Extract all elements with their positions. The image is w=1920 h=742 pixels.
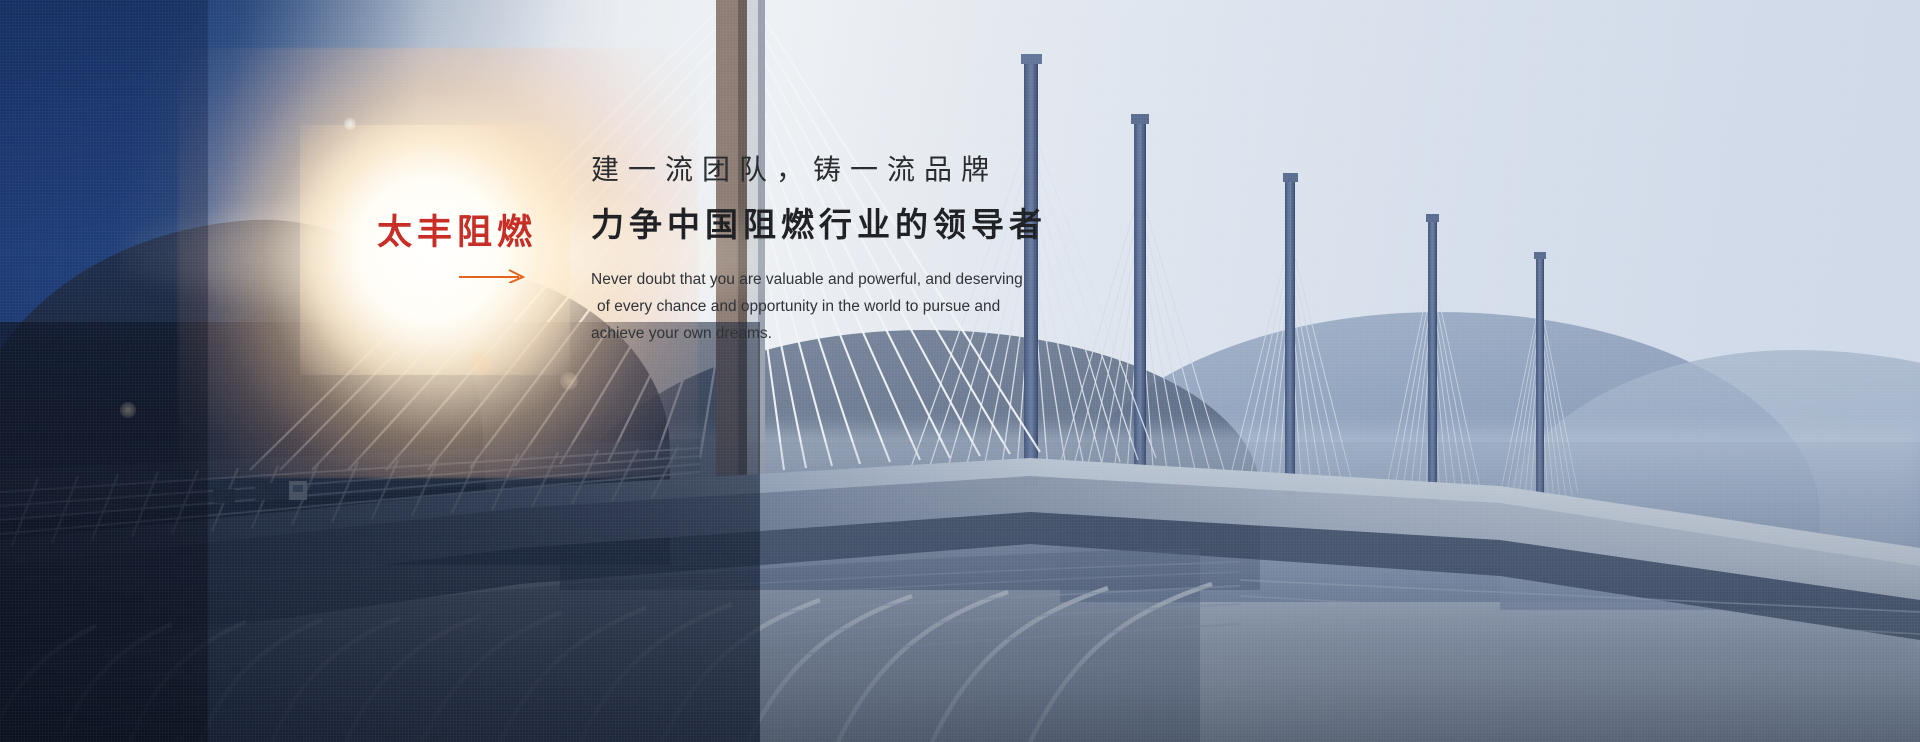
brand-logo-text: 太丰阻燃 [377, 216, 537, 251]
headline-secondary: 力争中国阻燃行业的领导者 [591, 205, 1111, 245]
subtitle-line-1: Never doubt that you are valuable and po… [591, 267, 1046, 294]
subtitle-line-2: of every chance and opportunity in the w… [591, 294, 1046, 321]
left-overlay-panel [0, 0, 208, 742]
subtitle-line-3: achieve your own dreams. [591, 321, 1046, 348]
hero-subtitle: Never doubt that you are valuable and po… [591, 267, 1046, 348]
hero-banner: 太丰阻燃 建一流团队，铸一流品牌 力争中国阻燃行业的领导者 Never doub… [0, 0, 1920, 742]
headline-primary: 建一流团队，铸一流品牌 [591, 152, 1111, 187]
brand-logo[interactable]: 太丰阻燃 [377, 216, 537, 251]
right-arrow-icon [459, 269, 527, 283]
hero-copy: 建一流团队，铸一流品牌 力争中国阻燃行业的领导者 Never doubt tha… [591, 152, 1111, 348]
